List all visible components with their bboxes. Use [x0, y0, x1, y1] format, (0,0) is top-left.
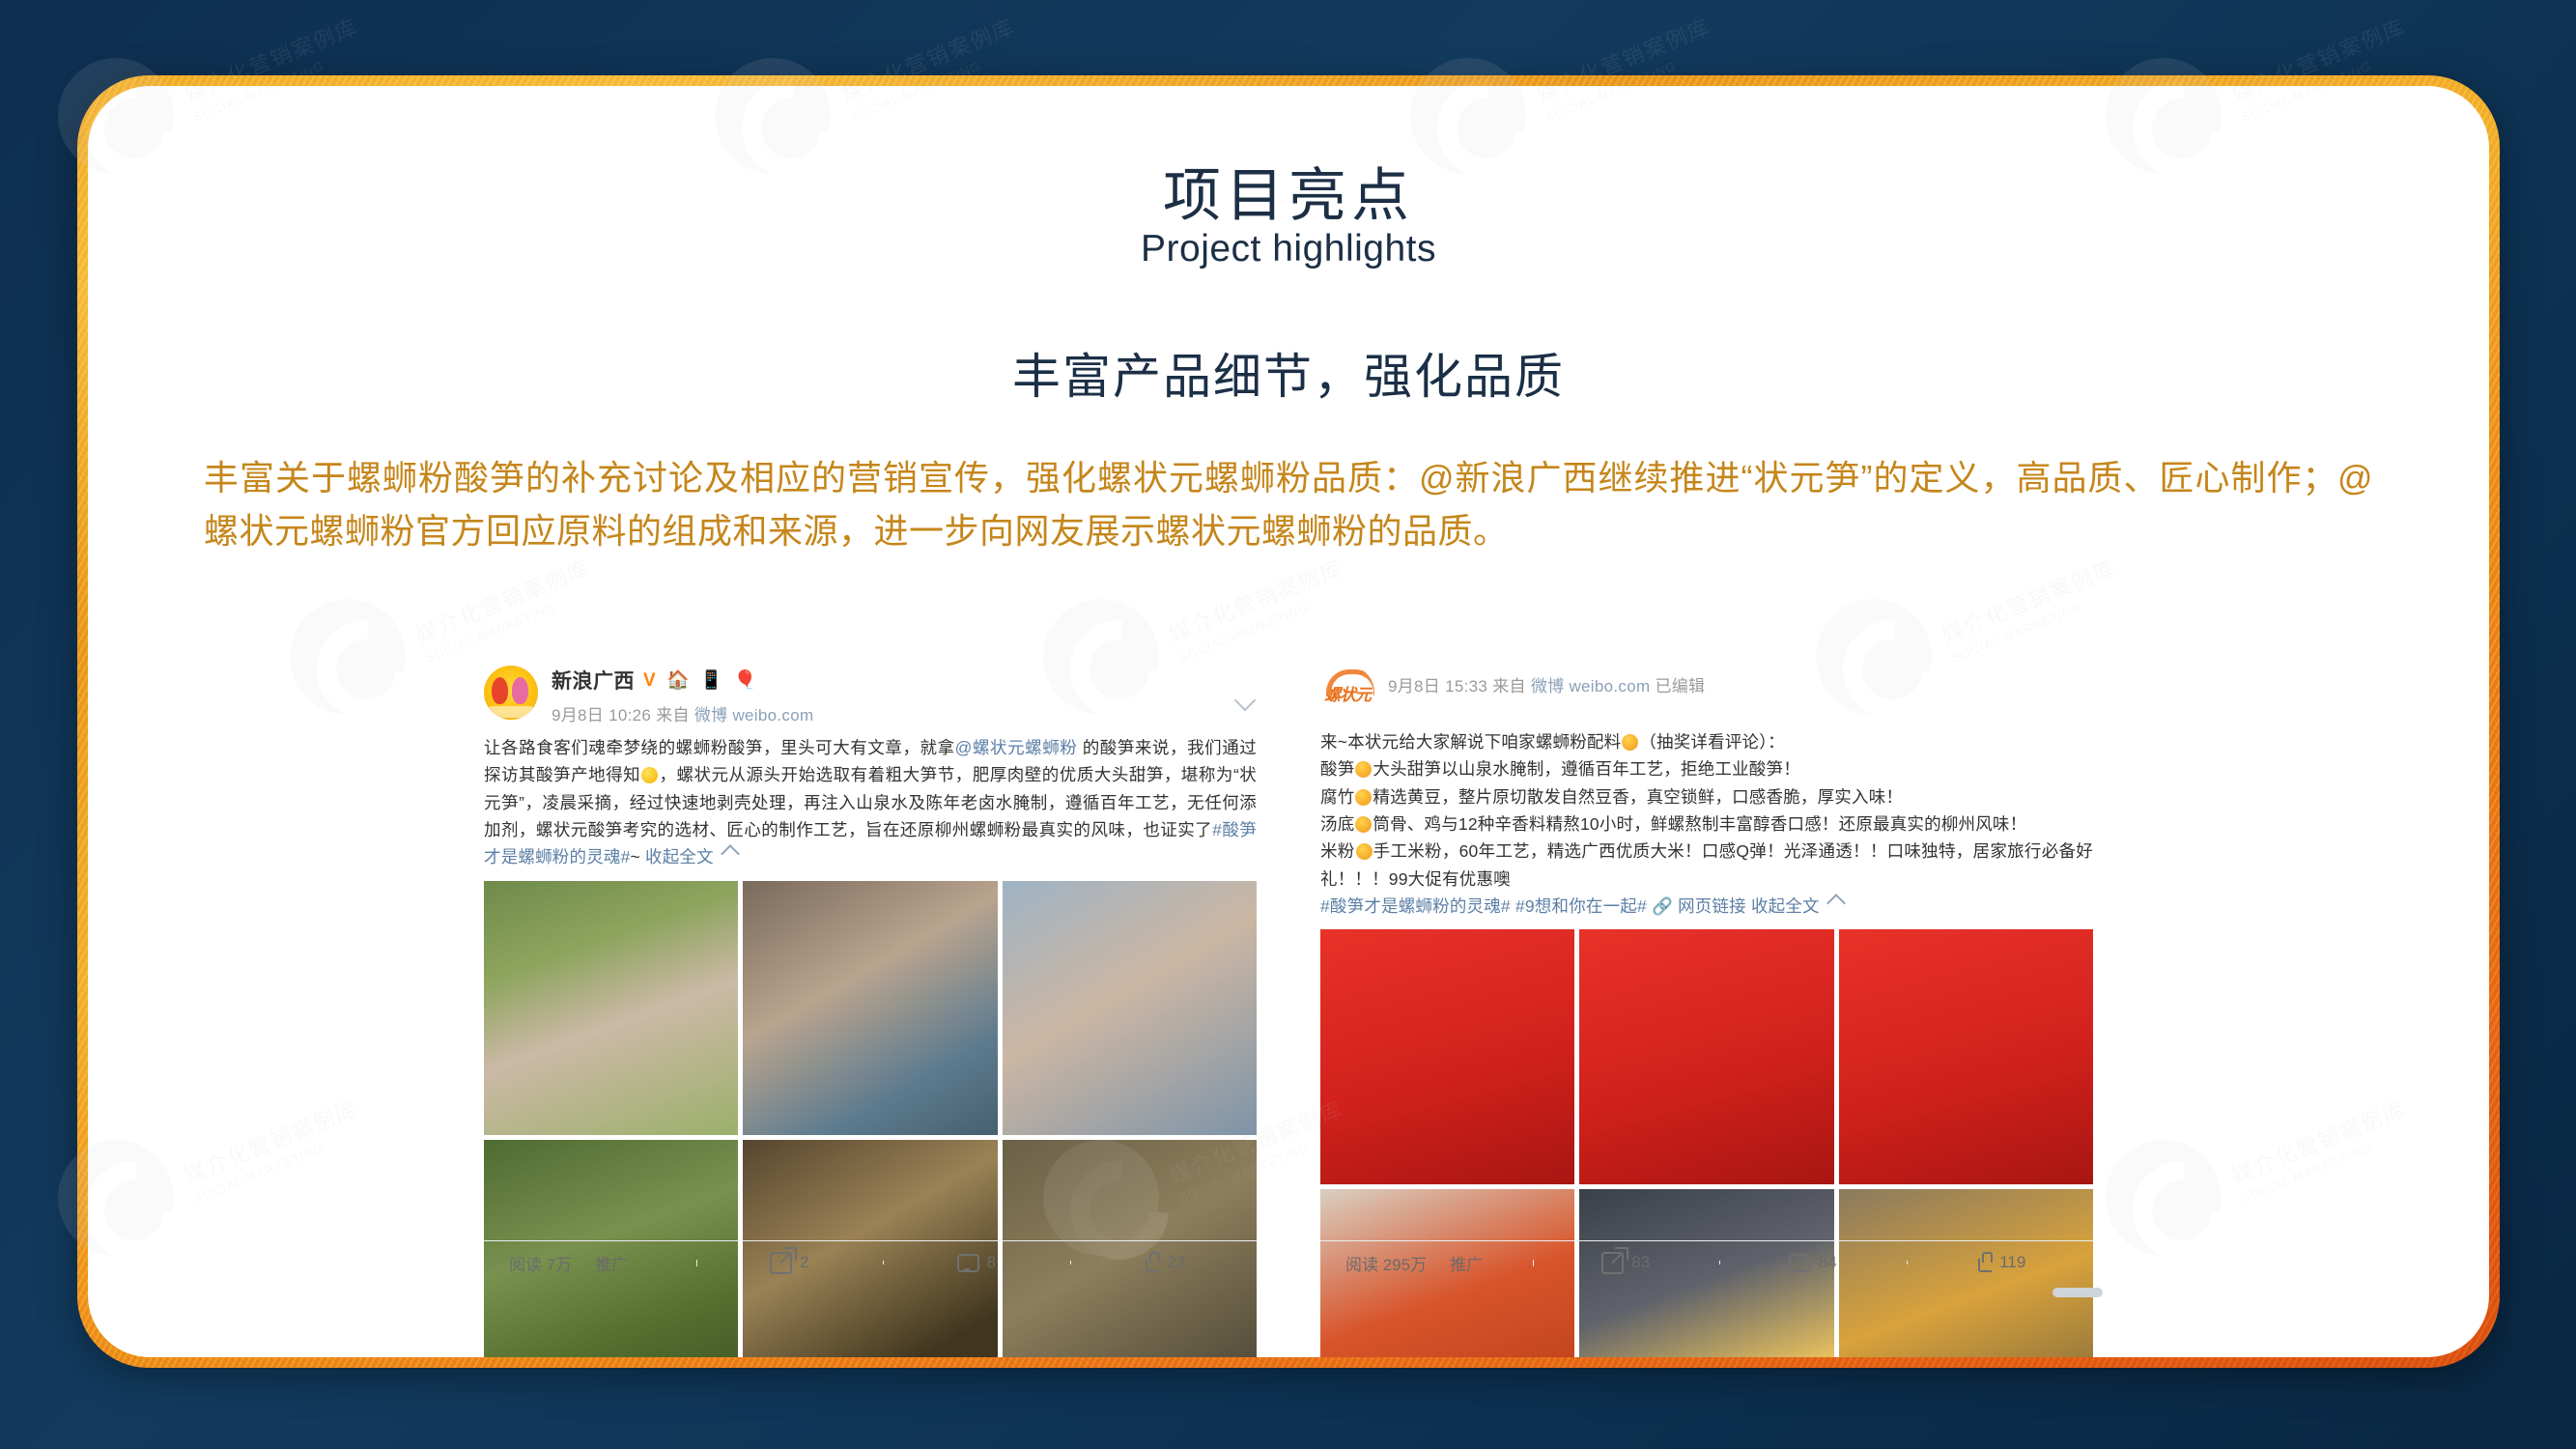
image-fill	[1579, 929, 1833, 1183]
image-fill	[484, 881, 738, 1135]
post-text-run: 来~本状元给大家解说下咱家螺蛳粉配料	[1320, 732, 1621, 752]
collapse-text-link[interactable]: 收起全文	[1751, 896, 1820, 916]
post-image-poster-handmade-tofu-skin[interactable]	[1839, 929, 2093, 1183]
share-button[interactable]: 83	[1533, 1252, 1720, 1274]
post-author-info: 新浪广西V 🏠 📱 🎈9月8日 10:26 来自 微博 weibo.com	[552, 666, 813, 725]
post-image-women-peeling-shoots[interactable]	[743, 881, 997, 1135]
post-author-info: 9月8日 15:33 来自 微博 weibo.com 已编辑	[1388, 666, 1705, 696]
post-mention-link[interactable]: @螺状元螺蛳粉	[955, 738, 1078, 757]
post-body-text: 让各路食客们魂牵梦绕的螺蛳粉酸笋，里头可大有文章，就拿@螺状元螺蛳粉 的酸笋来说…	[484, 734, 1257, 871]
section-headline: 丰富产品细节，强化品质	[88, 338, 2489, 408]
slide-page: 项目亮点 Project highlights 丰富产品细节，强化品质 丰富关于…	[88, 86, 2489, 1357]
like-button[interactable]: 23	[1070, 1253, 1258, 1272]
chevron-up-icon[interactable]	[1826, 894, 1846, 913]
post-hashtag-link[interactable]: #酸笋才是螺蛳粉的灵魂#	[1320, 896, 1511, 916]
avatar[interactable]: 螺状元	[1320, 666, 1374, 720]
post-author-name[interactable]: 新浪广西	[552, 666, 635, 695]
post-text-run: ~	[631, 847, 645, 867]
chevron-up-icon[interactable]	[721, 844, 740, 864]
comment-icon	[957, 1254, 979, 1272]
comment-icon	[1789, 1254, 1811, 1272]
emoji-icon	[1355, 789, 1372, 806]
weibo-post: 新浪广西V 🏠 📱 🎈9月8日 10:26 来自 微博 weibo.com让各路…	[484, 666, 1257, 1284]
post-image-grid	[1320, 929, 2093, 1357]
post-image-poster-sour-bamboo-shoot[interactable]	[1320, 929, 1574, 1183]
post-text-run: 汤底	[1320, 814, 1354, 834]
post-header: 螺状元9月8日 15:33 来自 微博 weibo.com 已编辑	[1320, 666, 2093, 720]
avatar[interactable]	[484, 666, 538, 720]
share-icon	[1601, 1252, 1624, 1274]
mascot-right-icon	[512, 677, 528, 704]
page-title: 项目亮点	[88, 165, 2489, 226]
post-action-bar: 阅读 7万推广2823	[484, 1240, 1257, 1284]
emoji-icon	[641, 767, 658, 783]
reads-count: 阅读 7万	[509, 1251, 572, 1275]
promote-button[interactable]: 推广	[595, 1251, 628, 1275]
page-title-block: 项目亮点 Project highlights	[88, 165, 2489, 270]
post-text-run: 让各路食客们魂牵梦绕的螺蛳粉酸笋，里头可大有文章，就拿	[484, 738, 955, 757]
share-button[interactable]: 2	[696, 1252, 884, 1274]
comment-button[interactable]: 8	[883, 1253, 1070, 1272]
emoji-icon	[1356, 843, 1373, 860]
post-text-run: 🔗	[1647, 896, 1678, 916]
comment-count: 84	[1819, 1253, 1837, 1272]
image-fill	[1003, 881, 1257, 1135]
post-text-run: （抽奖详看评论）：	[1639, 732, 1785, 752]
avatar-base	[488, 706, 534, 718]
collapse-text-link[interactable]: 收起全文	[645, 847, 714, 867]
share-count: 83	[1631, 1253, 1650, 1272]
post-text-run: 精选黄豆，整片原切散发自然豆香，真空锁鲜，口感香脆，厚实入味！	[1373, 787, 1903, 807]
image-fill	[743, 881, 997, 1135]
post-reads: 阅读 295万推广	[1320, 1251, 1533, 1275]
like-count: 119	[1999, 1253, 2025, 1272]
like-button[interactable]: 119	[1907, 1253, 2094, 1272]
lead-paragraph: 丰富关于螺蛳粉酸笋的补充讨论及相应的营销宣传，强化螺状元螺蛳粉品质：@新浪广西继…	[204, 452, 2373, 557]
post-image-grid: +6	[484, 881, 1257, 1357]
mascot-left-icon	[492, 677, 508, 704]
post-image-woman-holding-big-shoot[interactable]	[1003, 881, 1257, 1135]
image-fill	[1320, 929, 1574, 1183]
image-fill	[1839, 929, 2093, 1183]
share-count: 2	[800, 1253, 808, 1272]
post-image-poster-bone-broth[interactable]	[1579, 929, 1833, 1183]
weibo-posts-container: 新浪广西V 🏠 📱 🎈9月8日 10:26 来自 微博 weibo.com让各路…	[88, 666, 2489, 1284]
thumbs-up-icon	[1973, 1254, 1992, 1272]
comment-button[interactable]: 84	[1719, 1253, 1907, 1272]
scrollbar-thumb[interactable]	[2052, 1288, 2103, 1297]
comment-count: 8	[987, 1253, 996, 1272]
reads-count: 阅读 295万	[1345, 1251, 1427, 1275]
post-mention-link[interactable]: 网页链接	[1678, 896, 1746, 916]
post-action-bar: 阅读 295万推广8384119	[1320, 1240, 2093, 1284]
emoji-icon	[1622, 734, 1638, 751]
post-text-run: 筒骨、鸡与12种辛香料精熬10小时，鲜螺熬制丰富醇香口感！还原最真实的柳州风味！	[1373, 814, 2026, 834]
post-reads: 阅读 7万推广	[484, 1251, 696, 1275]
post-body-text: 来~本状元给大家解说下咱家螺蛳粉配料（抽奖详看评论）：酸笋大头甜笋以山泉水腌制，…	[1320, 728, 2093, 920]
post-meta: 9月8日 10:26 来自 微博 weibo.com	[552, 701, 813, 725]
post-text-run: 腐竹	[1320, 787, 1354, 807]
verified-badges-icon: V 🏠 📱 🎈	[643, 668, 760, 692]
weibo-post: 螺状元9月8日 15:33 来自 微博 weibo.com 已编辑来~本状元给大…	[1320, 666, 2093, 1284]
post-text-run: 米粉	[1320, 841, 1355, 861]
share-icon	[770, 1252, 792, 1274]
page-subtitle: Project highlights	[88, 228, 2489, 270]
promote-button[interactable]: 推广	[1450, 1251, 1483, 1275]
post-hashtag-link[interactable]: #9想和你在一起#	[1515, 896, 1647, 916]
post-text-run: 酸笋	[1320, 759, 1354, 779]
like-count: 23	[1167, 1253, 1185, 1272]
post-text-run: 手工米粉，60年工艺，精选广西优质大米！口感Q弹！光泽通透！！口味独特，居家旅行…	[1320, 841, 2093, 888]
post-header: 新浪广西V 🏠 📱 🎈9月8日 10:26 来自 微博 weibo.com	[484, 666, 1257, 725]
thumbs-up-icon	[1141, 1254, 1159, 1272]
post-image-girl-with-bamboo-shoot[interactable]	[484, 881, 738, 1135]
brand-arc-icon	[1326, 669, 1374, 696]
post-text-run: 大头甜笋以山泉水腌制，遵循百年工艺，拒绝工业酸笋！	[1373, 759, 1800, 779]
slide-gold-frame: 项目亮点 Project highlights 丰富产品细节，强化品质 丰富关于…	[77, 75, 2500, 1368]
post-meta: 9月8日 15:33 来自 微博 weibo.com 已编辑	[1388, 672, 1705, 696]
emoji-icon	[1355, 816, 1372, 833]
emoji-icon	[1355, 761, 1372, 778]
